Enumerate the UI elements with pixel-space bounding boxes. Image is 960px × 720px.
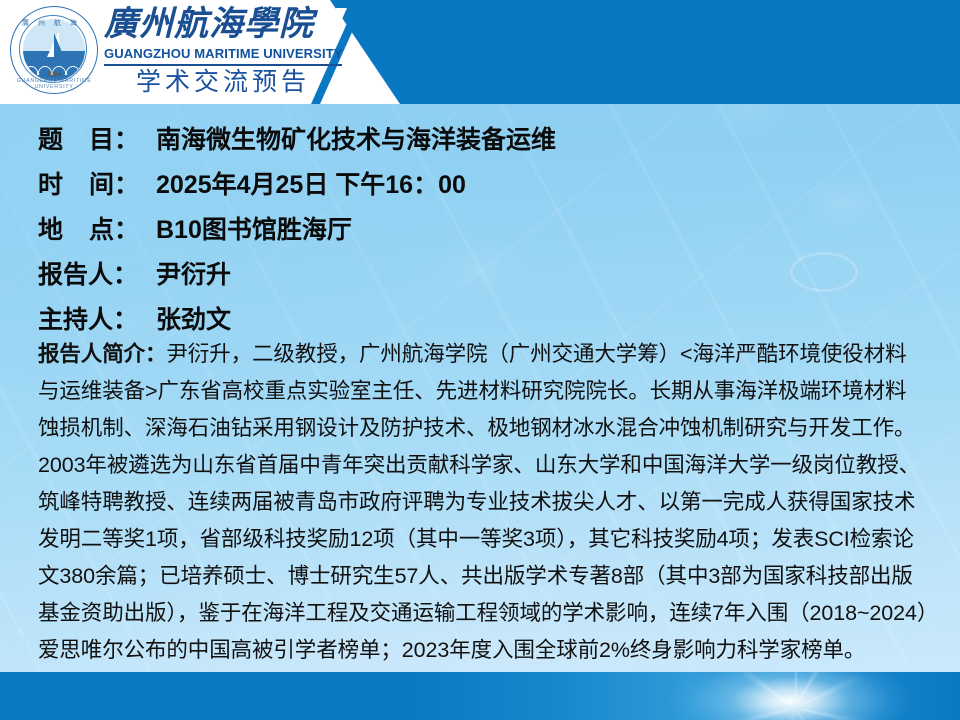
speaker-bio: 报告人简介：尹衍升，二级教授，广州航海学院（广州交通大学筹）<海洋严酷环境使役材… [38, 336, 928, 669]
brand-name-en: GUANGZHOU MARITIME UNIVERSITY [104, 46, 342, 62]
seal-arc-cn-text: 廣州航海 [10, 18, 98, 28]
event-fields: 题目：南海微生物矿化技术与海洋装备运维 时间：2025年4月25日 下午16：0… [38, 118, 918, 343]
field-row-location: 地点：B10图书馆胜海厅 [38, 208, 918, 253]
bio-line: 2003年被遴选为山东省首届中青年突出贡献科学家、山东大学和中国海洋大学一级岗位… [38, 447, 928, 484]
bio-heading: 报告人简介： [38, 342, 166, 366]
bio-line: 筑峰特聘教授、连续两届被青岛市政府评聘为专业技术拔尖人才、以第一完成人获得国家技… [38, 484, 928, 521]
bio-line-text: 尹衍升，二级教授，广州航海学院（广州交通大学筹）<海洋严酷环境使役材料 [166, 342, 906, 366]
field-label-title: 题目： [38, 118, 156, 163]
slide-content: 题目：南海微生物矿化技术与海洋装备运维 时间：2025年4月25日 下午16：0… [0, 104, 960, 720]
field-label-location: 地点： [38, 208, 156, 253]
bio-line: 报告人简介：尹衍升，二级教授，广州航海学院（广州交通大学筹）<海洋严酷环境使役材… [38, 336, 928, 373]
bio-line: 蚀损机制、深海石油钻采用钢设计及防护技术、极地钢材冰水混合冲蚀机制研究与开发工作… [38, 410, 928, 447]
field-label-time: 时间： [38, 163, 156, 208]
bio-line: 文380余篇；已培养硕士、博士研究生57人、共出版学术专著8部（其中3部为国家科… [38, 558, 928, 595]
field-value-time: 2025年4月25日 下午16：00 [156, 171, 466, 199]
field-row-title: 题目：南海微生物矿化技术与海洋装备运维 [38, 118, 918, 163]
university-seal-logo: 廣州航海 1964 GUANGZHOU MARITIME UNIVERSITY [10, 6, 98, 94]
bio-line: 与运维装备>广东省高校重点实验室主任、先进材料研究院院长。长期从事海洋极端环境材… [38, 373, 928, 410]
bio-line: 基金资助出版），鉴于在海洋工程及交通运输工程领域的学术影响，连续7年入围（201… [38, 595, 928, 632]
field-value-speaker: 尹衍升 [156, 261, 231, 289]
announcement-slide: 廣州航海 1964 GUANGZHOU MARITIME UNIVERSITY … [0, 0, 960, 720]
field-value-location: B10图书馆胜海厅 [156, 216, 352, 244]
brand-block: 廣州航海學院 GUANGZHOU MARITIME UNIVERSITY 学术交… [104, 4, 344, 98]
slide-header: 廣州航海 1964 GUANGZHOU MARITIME UNIVERSITY … [0, 0, 960, 104]
field-label-speaker: 报告人： [38, 253, 156, 298]
brand-name-cn: 廣州航海學院 [104, 4, 344, 46]
field-row-speaker: 报告人：尹衍升 [38, 253, 918, 298]
light-burst-rays [700, 672, 890, 720]
seal-arc-en-text: GUANGZHOU MARITIME UNIVERSITY [10, 78, 98, 91]
field-value-title: 南海微生物矿化技术与海洋装备运维 [156, 126, 556, 154]
bio-line: 爱思唯尔公布的中国高被引学者榜单；2023年度入围全球前2%终身影响力科学家榜单… [38, 632, 928, 669]
sailboat-icon-shadow [54, 33, 64, 57]
slide-subtitle: 学术交流预告 [104, 66, 342, 98]
bio-line: 发明二等奖1项，省部级科技奖励12项（其中一等奖3项），其它科技奖励4项；发表S… [38, 521, 928, 558]
field-value-host: 张劲文 [156, 306, 231, 334]
footer-band [0, 672, 960, 720]
field-row-time: 时间：2025年4月25日 下午16：00 [38, 163, 918, 208]
